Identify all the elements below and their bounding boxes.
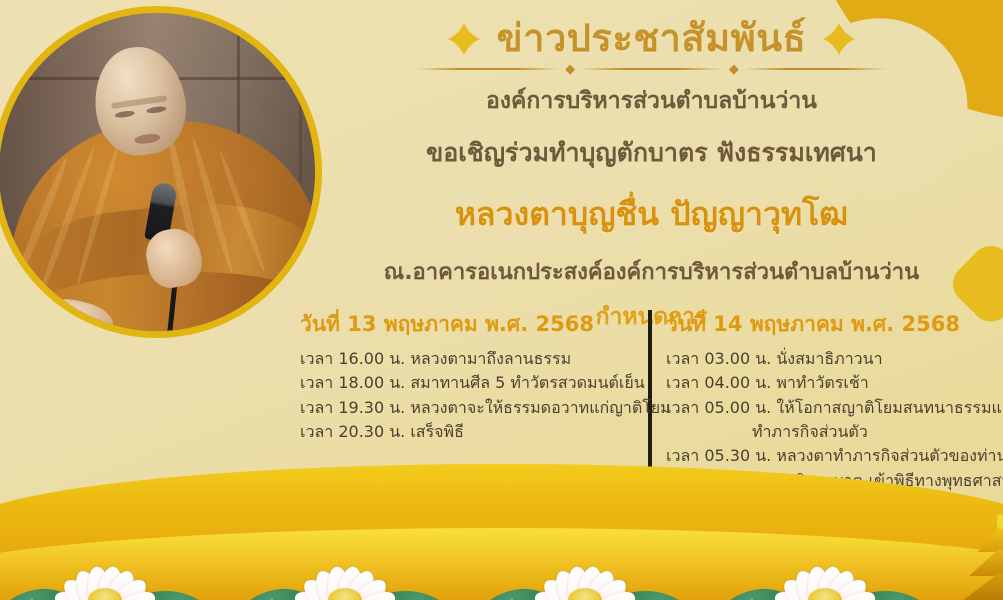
title-row: ข่าวประชาสัมพันธ์ <box>316 18 987 60</box>
day-1-items: เวลา 16.00 น. หลวงตามาถึงลานธรรม เวลา 18… <box>300 347 634 444</box>
poster-header: ข่าวประชาสัมพันธ์ ◆ ◆ องค์การบริหารส่วนต… <box>316 18 987 335</box>
page-title: ข่าวประชาสัมพันธ์ <box>497 18 807 60</box>
day-1-heading: วันที่ 13 พฤษภาคม พ.ศ. 2568 <box>300 308 634 341</box>
schedule-item: เวลา 03.00 น. นั่งสมาธิภาวนา <box>666 347 1000 371</box>
schedule-item-text: เวลา 20.30 น. เสร็จพิธี <box>300 422 464 441</box>
schedule-item-text: เวลา 18.00 น. สมาทานศีล 5 ทำวัตรสวดมนต์เ… <box>300 373 645 392</box>
day-2-heading: วันที่ 14 พฤษภาคม พ.ศ. 2568 <box>666 308 1000 341</box>
monk-name-line: หลวงตาบุญชื่น ปัญญาวุทโฒ <box>316 189 987 240</box>
divider-gem: ◆ <box>565 62 574 77</box>
schedule-item-text: เวลา 03.00 น. นั่งสมาธิภาวนา <box>666 349 883 368</box>
schedule-item: เวลา 04.00 น. พาทำวัตรเช้า <box>666 371 1000 395</box>
schedule-item-text: เวลา 05.00 น. ให้โอกาสญาติโยมสนทนาธรรมแล… <box>666 398 1003 417</box>
thai-pagoda-icon <box>961 522 1003 600</box>
floral-diamond-icon <box>822 22 856 56</box>
floral-diamond-icon <box>447 22 481 56</box>
schedule-item-text: เวลา 16.00 น. หลวงตามาถึงลานธรรม <box>300 349 571 368</box>
schedule-item: เวลา 19.30 น. หลวงตาจะให้ธรรมดอวาทแก่ญาต… <box>300 396 634 420</box>
schedule-item-text: เวลา 19.30 น. หลวงตาจะให้ธรรมดอวาทแก่ญาต… <box>300 398 671 417</box>
monk-portrait-photo <box>0 6 322 338</box>
invitation-line: ขอเชิญร่วมทำบุญตักบาตร ฟังธรรมเทศนา <box>316 133 987 173</box>
schedule-item: เวลา 18.00 น. สมาทานศีล 5 ทำวัตรสวดมนต์เ… <box>300 371 634 395</box>
schedule-item: เวลา 05.00 น. ให้โอกาสญาติโยมสนทนาธรรมแล… <box>666 396 1000 445</box>
schedule-item-text: เวลา 05.30 น. หลวงตาทำภารกิจส่วนตัวของท่… <box>666 446 1003 465</box>
schedule-item: เวลา 20.30 น. เสร็จพิธี <box>300 420 634 444</box>
schedule-day-1: วันที่ 13 พฤษภาคม พ.ศ. 2568 เวลา 16.00 น… <box>300 308 648 444</box>
schedule-item-text: เวลา 04.00 น. พาทำวัตรเช้า <box>666 373 869 392</box>
lotus-flower-icon <box>260 534 430 600</box>
venue-line: ณ.อาคารอเนกประสงค์องค์การบริหารส่วนตำบลบ… <box>316 254 987 289</box>
bottom-decorative-band <box>0 464 1003 600</box>
divider-gem: ◆ <box>729 62 738 77</box>
announcement-poster: ข่าวประชาสัมพันธ์ ◆ ◆ องค์การบริหารส่วนต… <box>0 0 1003 600</box>
lotus-flower-icon <box>740 534 910 600</box>
title-divider: ◆ ◆ <box>417 62 887 77</box>
schedule-item: เวลา 05.30 น. หลวงตาทำภารกิจส่วนตัวของท่… <box>666 444 1000 468</box>
lotus-flower-icon <box>20 534 190 600</box>
schedule-item: เวลา 16.00 น. หลวงตามาถึงลานธรรม <box>300 347 634 371</box>
lotus-flower-icon <box>500 534 670 600</box>
organization-line: องค์การบริหารส่วนตำบลบ้านว่าน <box>316 83 987 119</box>
schedule-item-continuation: ทำภารกิจส่วนตัว <box>666 420 1000 444</box>
